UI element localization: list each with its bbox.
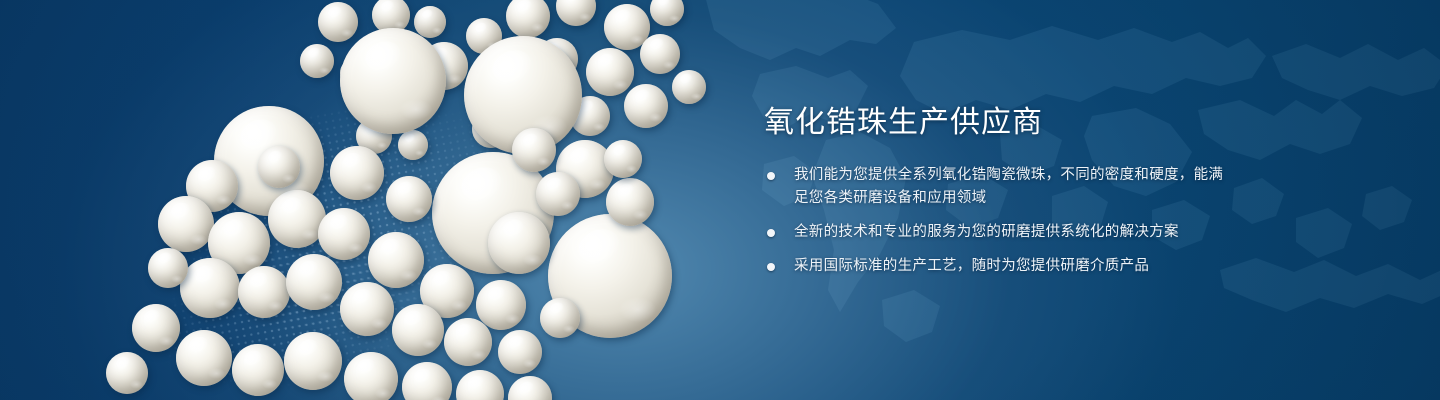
bead [604, 140, 642, 178]
bead [132, 304, 180, 352]
bead-large [340, 28, 446, 134]
banner-copy-block: 氧化锆珠生产供应商 我们能为您提供全系列氧化锆陶瓷微珠，不同的密度和硬度，能满足… [764, 104, 1234, 278]
bead [508, 376, 552, 400]
bead [300, 44, 334, 78]
bead [488, 212, 550, 274]
bead [180, 258, 240, 318]
bead [414, 6, 446, 38]
bead [386, 176, 432, 222]
bead [402, 362, 452, 400]
bead [606, 178, 654, 226]
bead [176, 330, 232, 386]
bead [158, 196, 214, 252]
list-item-label: 全新的技术和专业的服务为您的研磨提供系统化的解决方案 [794, 224, 1179, 240]
bead [330, 146, 384, 200]
bead [106, 352, 148, 394]
bead [650, 0, 684, 26]
bead [286, 254, 342, 310]
bead [238, 266, 290, 318]
bead [318, 2, 358, 42]
bead [368, 232, 424, 288]
list-item: 我们能为您提供全系列氧化锆陶瓷微珠，不同的密度和硬度，能满足您各类研磨设备和应用… [764, 164, 1234, 210]
list-item-label: 我们能为您提供全系列氧化锆陶瓷微珠，不同的密度和硬度，能满足您各类研磨设备和应用… [794, 167, 1223, 206]
bead [672, 70, 706, 104]
bead [148, 248, 188, 288]
list-item: 全新的技术和专业的服务为您的研磨提供系统化的解决方案 [764, 221, 1234, 244]
bead [344, 352, 398, 400]
bead [444, 318, 492, 366]
bullet-dot-icon [767, 263, 775, 271]
bead [268, 190, 326, 248]
bead [640, 34, 680, 74]
bead [506, 0, 550, 38]
bullet-dot-icon [767, 229, 775, 237]
hero-banner: 氧化锆珠生产供应商 我们能为您提供全系列氧化锆陶瓷微珠，不同的密度和硬度，能满足… [0, 0, 1440, 400]
bead [284, 332, 342, 390]
list-item-label: 采用国际标准的生产工艺，随时为您提供研磨介质产品 [794, 258, 1149, 274]
page-title: 氧化锆珠生产供应商 [764, 104, 1234, 142]
bead [586, 48, 634, 96]
bead [232, 344, 284, 396]
bead [624, 84, 668, 128]
bead [398, 130, 428, 160]
bead [512, 128, 556, 172]
bullet-dot-icon [767, 172, 775, 180]
bead [536, 172, 580, 216]
zirconia-bead-cluster-image [0, 0, 760, 400]
bead [258, 146, 300, 188]
bead [340, 282, 394, 336]
bead [392, 304, 444, 356]
feature-bullet-list: 我们能为您提供全系列氧化锆陶瓷微珠，不同的密度和硬度，能满足您各类研磨设备和应用… [764, 164, 1234, 278]
bead [498, 330, 542, 374]
bead [476, 280, 526, 330]
bead [318, 208, 370, 260]
list-item: 采用国际标准的生产工艺，随时为您提供研磨介质产品 [764, 255, 1234, 278]
bead [456, 370, 504, 400]
bead [556, 0, 596, 26]
bead [540, 298, 580, 338]
